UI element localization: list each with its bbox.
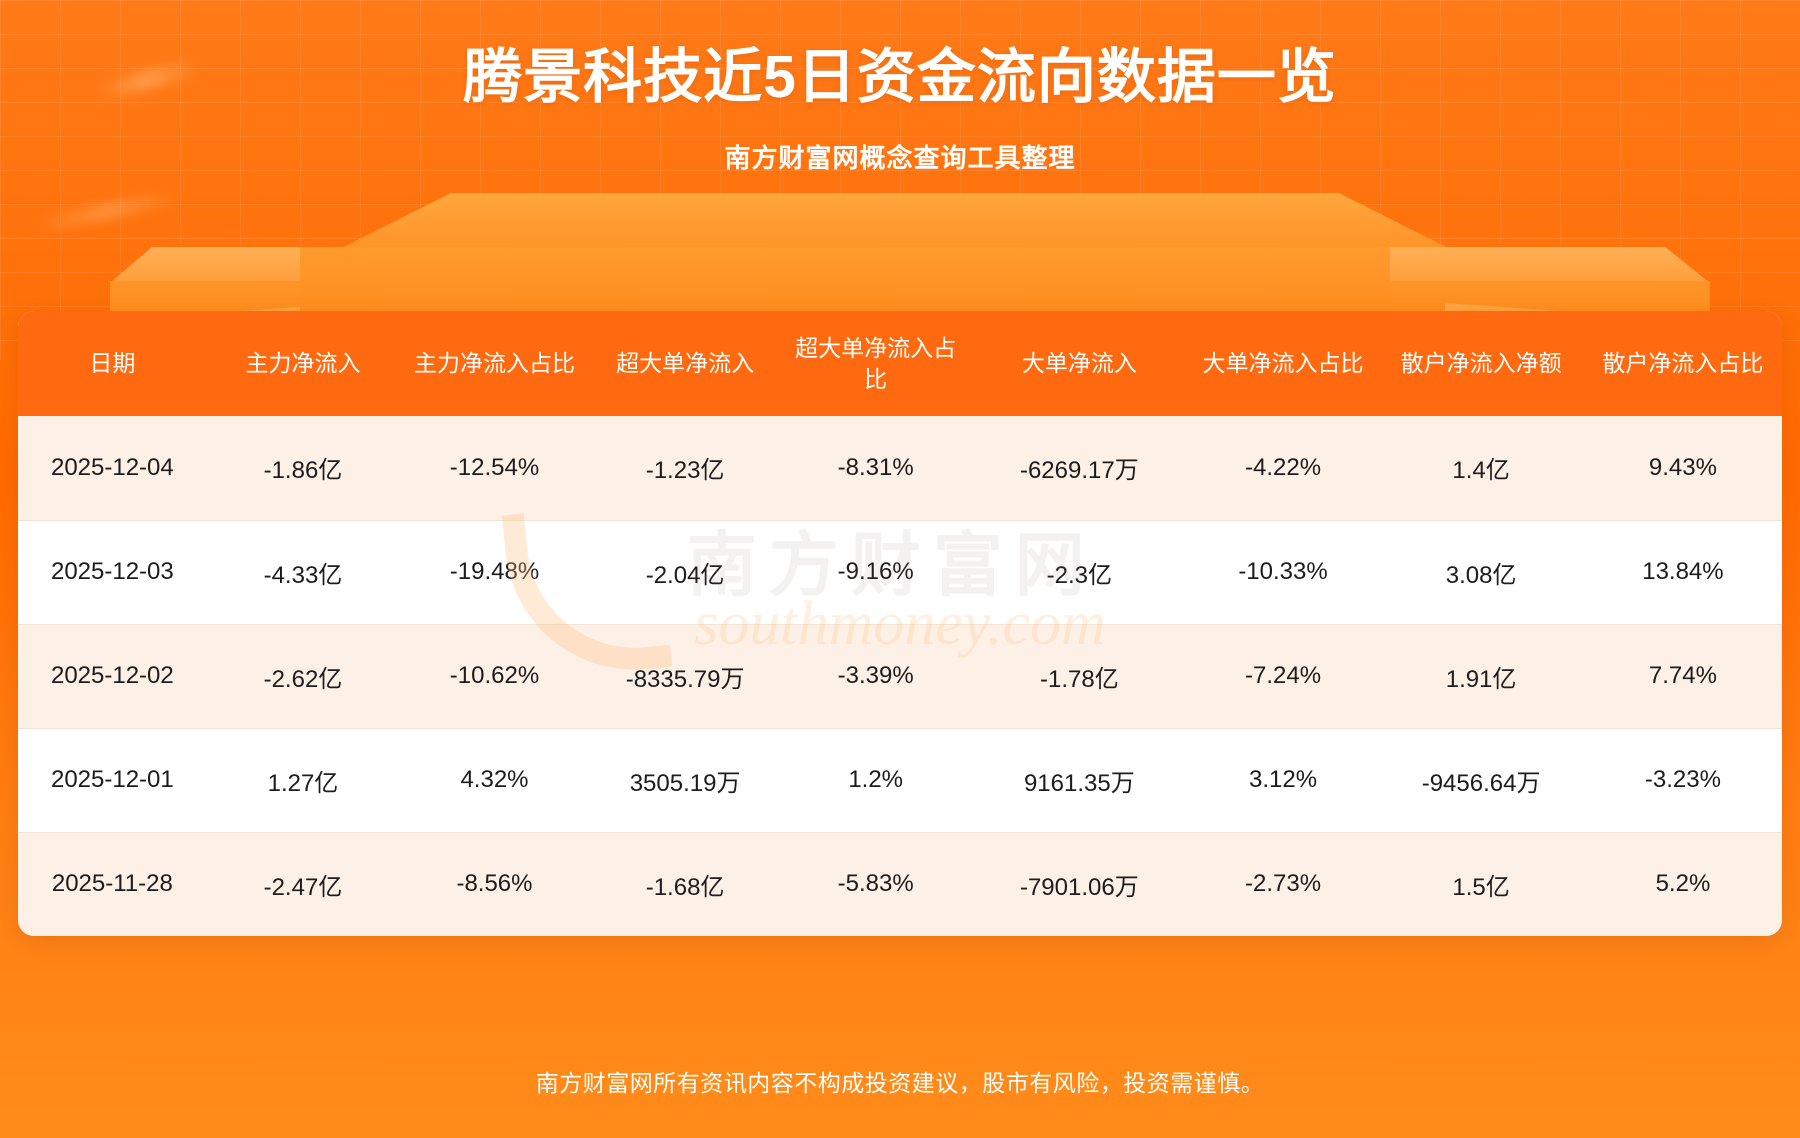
podium-block-left-top — [110, 247, 410, 283]
podium-nub-c — [1045, 229, 1141, 253]
column-header-lg-pct: 大单净流入占比 — [1188, 311, 1379, 416]
cell-date: 2025-12-02 — [18, 624, 207, 728]
cell-retail-pct: 9.43% — [1584, 416, 1782, 520]
cell-lg-net: -1.78亿 — [971, 624, 1188, 728]
cell-main-net: -2.47亿 — [207, 832, 399, 936]
table-header-row: 日期 主力净流入 主力净流入占比 超大单净流入 超大单净流入占比 大单净流入 大… — [18, 311, 1782, 416]
cell-xl-pct: -3.39% — [780, 624, 971, 728]
cell-xl-net: -8335.79万 — [590, 624, 781, 728]
light-streak-decoration — [30, 190, 180, 235]
table-row: 2025-11-28 -2.47亿 -8.56% -1.68亿 -5.83% -… — [18, 832, 1782, 936]
cell-date: 2025-12-03 — [18, 520, 207, 624]
cell-lg-net: -6269.17万 — [971, 416, 1188, 520]
cell-xl-net: -1.23亿 — [590, 416, 781, 520]
column-header-date: 日期 — [18, 311, 207, 416]
column-header-retail-pct: 散户净流入占比 — [1584, 311, 1782, 416]
column-header-main-pct: 主力净流入占比 — [399, 311, 590, 416]
cell-retail-net: 1.5亿 — [1378, 832, 1584, 936]
cell-retail-net: -9456.64万 — [1378, 728, 1584, 832]
cell-retail-pct: 7.74% — [1584, 624, 1782, 728]
table-row: 2025-12-02 -2.62亿 -10.62% -8335.79万 -3.3… — [18, 624, 1782, 728]
podium-nub-a — [460, 225, 532, 251]
column-header-xl-pct: 超大单净流入占比 — [780, 311, 971, 416]
light-streak-decoration — [1290, 231, 1459, 284]
light-streak-decoration — [1055, 220, 1175, 258]
cell-lg-net: 9161.35万 — [971, 728, 1188, 832]
cell-main-pct: 4.32% — [399, 728, 590, 832]
fund-flow-table: 日期 主力净流入 主力净流入占比 超大单净流入 超大单净流入占比 大单净流入 大… — [18, 311, 1782, 936]
cell-main-net: -1.86亿 — [207, 416, 399, 520]
cell-date: 2025-11-28 — [18, 832, 207, 936]
cell-retail-net: 3.08亿 — [1378, 520, 1584, 624]
table-row: 2025-12-03 -4.33亿 -19.48% -2.04亿 -9.16% … — [18, 520, 1782, 624]
cell-xl-pct: -5.83% — [780, 832, 971, 936]
cell-retail-net: 1.91亿 — [1378, 624, 1584, 728]
cell-main-net: 1.27亿 — [207, 728, 399, 832]
data-table-card: 南方财富网 southmoney.com 日期 主力净流入 主力净流入占比 超大… — [18, 311, 1782, 936]
cell-main-pct: -10.62% — [399, 624, 590, 728]
column-header-retail-net: 散户净流入净额 — [1378, 311, 1584, 416]
infographic-page: 腾景科技近5日资金流向数据一览 南方财富网概念查询工具整理 南方财富网 sout… — [0, 0, 1800, 1138]
cell-lg-pct: -2.73% — [1188, 832, 1379, 936]
cell-xl-net: 3505.19万 — [590, 728, 781, 832]
cell-main-net: -4.33亿 — [207, 520, 399, 624]
cell-xl-net: -2.04亿 — [590, 520, 781, 624]
cell-date: 2025-12-01 — [18, 728, 207, 832]
cell-retail-pct: 13.84% — [1584, 520, 1782, 624]
cell-lg-pct: -4.22% — [1188, 416, 1379, 520]
cell-main-net: -2.62亿 — [207, 624, 399, 728]
cell-lg-pct: -10.33% — [1188, 520, 1379, 624]
hero-section: 腾景科技近5日资金流向数据一览 南方财富网概念查询工具整理 — [0, 0, 1800, 175]
footer-disclaimer: 南方财富网所有资讯内容不构成投资建议，股市有风险，投资需谨慎。 — [0, 1064, 1800, 1098]
cell-lg-pct: 3.12% — [1188, 728, 1379, 832]
podium-block-center-top — [340, 193, 1450, 249]
cell-main-pct: -19.48% — [399, 520, 590, 624]
table-row: 2025-12-01 1.27亿 4.32% 3505.19万 1.2% 916… — [18, 728, 1782, 832]
cell-retail-pct: -3.23% — [1584, 728, 1782, 832]
podium-nub-b — [538, 233, 578, 253]
table-body: 2025-12-04 -1.86亿 -12.54% -1.23亿 -8.31% … — [18, 416, 1782, 936]
column-header-lg-net: 大单净流入 — [971, 311, 1188, 416]
page-title: 腾景科技近5日资金流向数据一览 — [0, 0, 1800, 110]
podium-block-right-top — [1390, 247, 1710, 283]
table-header: 日期 主力净流入 主力净流入占比 超大单净流入 超大单净流入占比 大单净流入 大… — [18, 311, 1782, 416]
cell-main-pct: -8.56% — [399, 832, 590, 936]
cell-date: 2025-12-04 — [18, 416, 207, 520]
cell-xl-net: -1.68亿 — [590, 832, 781, 936]
cell-lg-net: -2.3亿 — [971, 520, 1188, 624]
cell-lg-net: -7901.06万 — [971, 832, 1188, 936]
table-row: 2025-12-04 -1.86亿 -12.54% -1.23亿 -8.31% … — [18, 416, 1782, 520]
cell-main-pct: -12.54% — [399, 416, 590, 520]
cell-lg-pct: -7.24% — [1188, 624, 1379, 728]
cell-retail-pct: 5.2% — [1584, 832, 1782, 936]
cell-xl-pct: -9.16% — [780, 520, 971, 624]
cell-xl-pct: -8.31% — [780, 416, 971, 520]
cell-xl-pct: 1.2% — [780, 728, 971, 832]
page-subtitle: 南方财富网概念查询工具整理 — [0, 110, 1800, 175]
column-header-main-net: 主力净流入 — [207, 311, 399, 416]
cell-retail-net: 1.4亿 — [1378, 416, 1584, 520]
column-header-xl-net: 超大单净流入 — [590, 311, 781, 416]
